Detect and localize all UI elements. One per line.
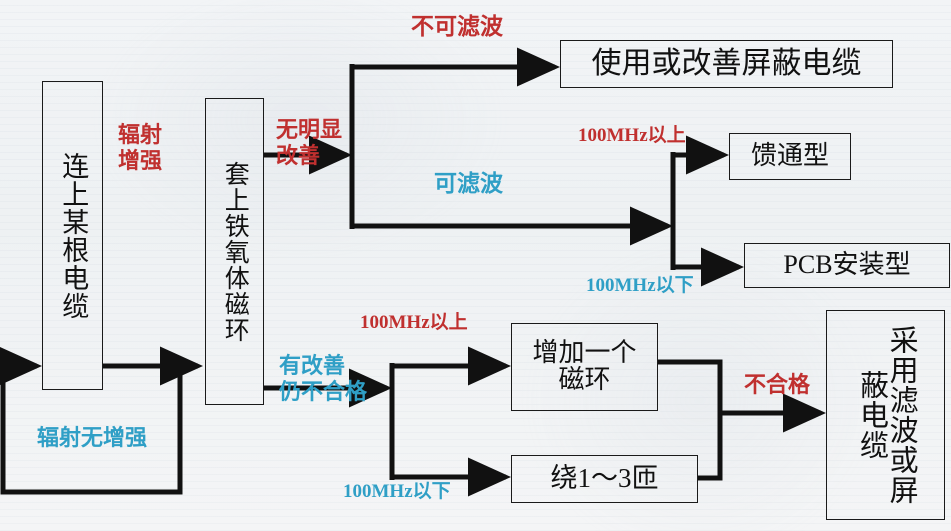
- trunk-group: [352, 64, 720, 480]
- node-feedthrough[interactable]: 馈通型: [729, 133, 851, 180]
- label-below-100mhz-bottom: 100MHz以下: [343, 481, 451, 503]
- node-ferrite-label: 套上铁氧体磁环: [222, 161, 248, 343]
- node-add-one-ring[interactable]: 增加一个磁环: [511, 323, 658, 411]
- label-radiation-increase: 辐射 增强: [118, 122, 162, 174]
- node-cable[interactable]: 连上某根电缆: [42, 81, 103, 390]
- label-above-100mhz-bottom: 100MHz以上: [360, 312, 468, 334]
- node-ferrite[interactable]: 套上铁氧体磁环: [205, 98, 264, 405]
- label-below-100mhz-top: 100MHz以下: [586, 275, 694, 297]
- label-no-radiation-increase: 辐射无增强: [37, 425, 147, 451]
- flowchart-canvas: 连上某根电缆 套上铁氧体磁环 使用或改善屏蔽电缆 馈通型 PCB安装型 增加一个…: [0, 0, 951, 531]
- node-filter-or-shield-label: 采用滤波或屏蔽电缆: [856, 311, 915, 519]
- node-pcb-mount-label: PCB安装型: [783, 252, 910, 279]
- node-wind-turns[interactable]: 绕1～3匝: [511, 455, 698, 503]
- arrow-group: [3, 67, 821, 492]
- node-feedthrough-label: 馈通型: [751, 143, 829, 170]
- label-no-obvious-improve: 无明显 改善: [276, 117, 342, 169]
- node-filter-or-shield[interactable]: 采用滤波或屏蔽电缆: [826, 310, 945, 520]
- node-add-one-ring-label: 增加一个磁环: [522, 340, 647, 393]
- label-improved-but-fail: 有改善 仍不合格: [279, 353, 367, 405]
- node-cable-label: 连上某根电缆: [59, 152, 87, 320]
- node-shielded-cable[interactable]: 使用或改善屏蔽电缆: [560, 40, 893, 88]
- label-not-filterable: 不可滤波: [411, 13, 503, 40]
- label-above-100mhz-top: 100MHz以上: [578, 125, 686, 147]
- label-filterable: 可滤波: [434, 170, 503, 197]
- node-pcb-mount[interactable]: PCB安装型: [744, 243, 950, 288]
- node-shielded-cable-label: 使用或改善屏蔽电缆: [592, 49, 862, 80]
- label-not-qualified: 不合格: [744, 372, 810, 398]
- node-wind-turns-label: 绕1～3匝: [551, 465, 659, 493]
